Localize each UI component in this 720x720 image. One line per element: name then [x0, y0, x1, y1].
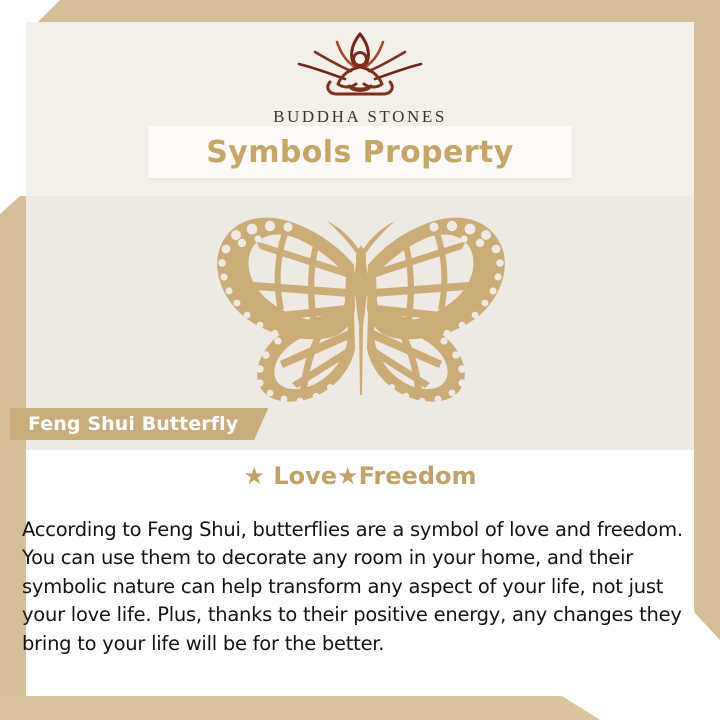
title-banner: Symbols Property [148, 126, 572, 178]
love-freedom-subheading: ★ Love★Freedom [26, 462, 694, 490]
promo-poster: BUDDHA STONES Symbols Property [0, 0, 720, 720]
brand-name: BUDDHA STONES [0, 107, 720, 127]
feng-shui-butterfly-tag: Feng Shui Butterfly [10, 408, 268, 440]
lotus-meditation-icon [0, 26, 720, 103]
description-paragraph: According to Feng Shui, butterflies are … [22, 516, 694, 659]
page-title: Symbols Property [206, 135, 513, 170]
tag-label: Feng Shui Butterfly [28, 413, 238, 435]
butterfly-icon [196, 205, 526, 405]
gold-border-top [0, 0, 720, 22]
gold-border-bottom [0, 696, 720, 720]
brand-logo: BUDDHA STONES [0, 26, 720, 127]
